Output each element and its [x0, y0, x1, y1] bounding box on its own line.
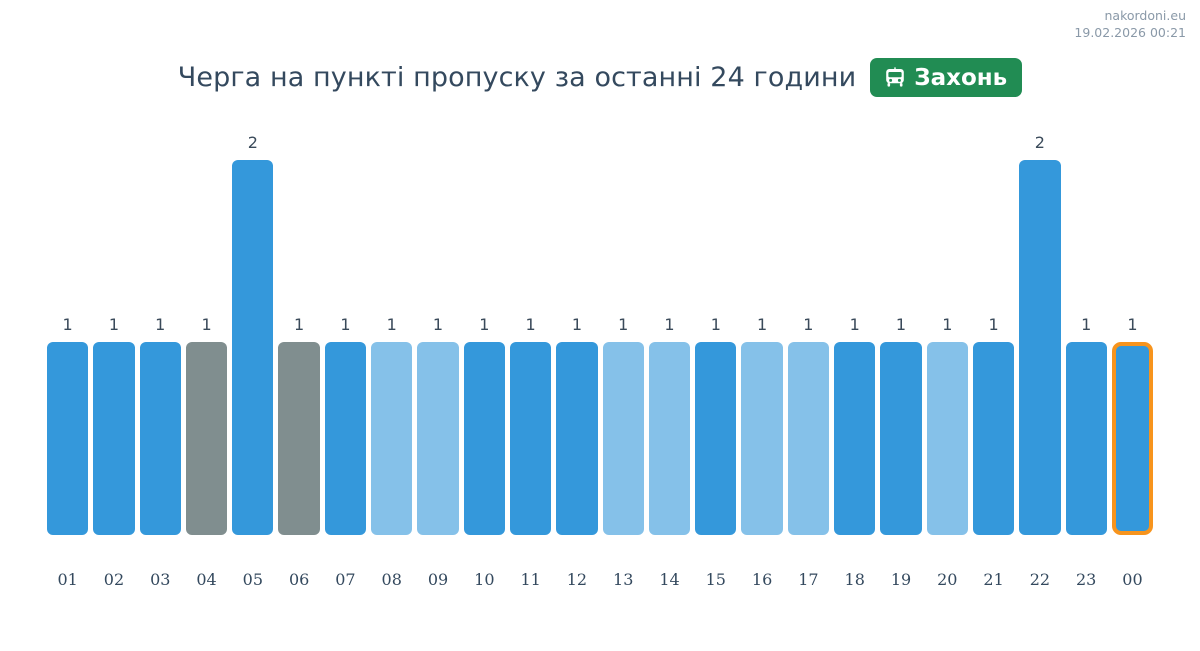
- bar-slot-04[interactable]: 1: [186, 140, 227, 535]
- bar-slot-10[interactable]: 1: [464, 140, 505, 535]
- bar-slot-19[interactable]: 1: [880, 140, 921, 535]
- watermark-meta: nakordoni.eu 19.02.2026 00:21: [1074, 8, 1186, 42]
- x-tick-04: 04: [186, 570, 227, 589]
- x-tick-11: 11: [510, 570, 551, 589]
- x-tick-02: 02: [93, 570, 134, 589]
- bar-value-label: 1: [417, 317, 458, 333]
- bar[interactable]: [649, 342, 690, 535]
- bar-slot-20[interactable]: 1: [927, 140, 968, 535]
- bar[interactable]: [1066, 342, 1107, 535]
- bar-slot-18[interactable]: 1: [834, 140, 875, 535]
- x-tick-15: 15: [695, 570, 736, 589]
- bar-slot-00[interactable]: 1: [1112, 140, 1153, 535]
- timestamp-label: 19.02.2026 00:21: [1074, 25, 1186, 42]
- bar-value-label: 2: [1019, 135, 1060, 151]
- bar-value-label: 1: [1112, 317, 1153, 333]
- bar-slot-13[interactable]: 1: [603, 140, 644, 535]
- bar-value-label: 1: [788, 317, 829, 333]
- bar[interactable]: [278, 342, 319, 535]
- bar-value-label: 1: [325, 317, 366, 333]
- bar-value-label: 1: [1066, 317, 1107, 333]
- bar-slot-08[interactable]: 1: [371, 140, 412, 535]
- bar[interactable]: [556, 342, 597, 535]
- bar-slot-21[interactable]: 1: [973, 140, 1014, 535]
- bar-value-label: 1: [603, 317, 644, 333]
- x-tick-00: 00: [1112, 570, 1153, 589]
- bar[interactable]: [325, 342, 366, 535]
- x-tick-13: 13: [603, 570, 644, 589]
- bar[interactable]: [880, 342, 921, 535]
- bar-value-label: 1: [649, 317, 690, 333]
- chart-header: Черга на пункті пропуску за останні 24 г…: [0, 58, 1200, 97]
- bus-icon: [883, 66, 907, 90]
- bar-slot-07[interactable]: 1: [325, 140, 366, 535]
- bar[interactable]: [417, 342, 458, 535]
- bar-value-label: 1: [186, 317, 227, 333]
- x-tick-07: 07: [325, 570, 366, 589]
- bar-slot-05[interactable]: 2: [232, 140, 273, 535]
- bar-slot-09[interactable]: 1: [417, 140, 458, 535]
- bar-current-hour[interactable]: [1112, 342, 1153, 535]
- bar-slot-16[interactable]: 1: [741, 140, 782, 535]
- bar-slot-11[interactable]: 1: [510, 140, 551, 535]
- bar[interactable]: [695, 342, 736, 535]
- bar-value-label: 1: [927, 317, 968, 333]
- bar-slot-23[interactable]: 1: [1066, 140, 1107, 535]
- x-tick-12: 12: [556, 570, 597, 589]
- bar-value-label: 1: [140, 317, 181, 333]
- bar-slot-06[interactable]: 1: [278, 140, 319, 535]
- x-tick-03: 03: [140, 570, 181, 589]
- x-tick-06: 06: [278, 570, 319, 589]
- bar[interactable]: [603, 342, 644, 535]
- bar[interactable]: [834, 342, 875, 535]
- x-tick-18: 18: [834, 570, 875, 589]
- bar-value-label: 1: [695, 317, 736, 333]
- x-tick-10: 10: [464, 570, 505, 589]
- checkpoint-badge[interactable]: Захонь: [870, 58, 1022, 97]
- bar-value-label: 1: [556, 317, 597, 333]
- x-tick-14: 14: [649, 570, 690, 589]
- x-tick-21: 21: [973, 570, 1014, 589]
- site-watermark: nakordoni.eu: [1074, 8, 1186, 25]
- bar-value-label: 1: [834, 317, 875, 333]
- bar[interactable]: [186, 342, 227, 535]
- x-tick-08: 08: [371, 570, 412, 589]
- chart-plot-area: 111121111111111111111211: [47, 140, 1153, 540]
- page-title: Черга на пункті пропуску за останні 24 г…: [178, 62, 857, 93]
- bar-value-label: 1: [973, 317, 1014, 333]
- bar-slot-14[interactable]: 1: [649, 140, 690, 535]
- bar-value-label: 1: [510, 317, 551, 333]
- bar-value-label: 1: [47, 317, 88, 333]
- bar-slot-22[interactable]: 2: [1019, 140, 1060, 535]
- bar-slot-17[interactable]: 1: [788, 140, 829, 535]
- bar[interactable]: [510, 342, 551, 535]
- x-tick-23: 23: [1066, 570, 1107, 589]
- bar-value-label: 2: [232, 135, 273, 151]
- x-tick-20: 20: [927, 570, 968, 589]
- x-tick-01: 01: [47, 570, 88, 589]
- bar-value-label: 1: [464, 317, 505, 333]
- bar[interactable]: [741, 342, 782, 535]
- checkpoint-name: Захонь: [914, 67, 1007, 90]
- bar-value-label: 1: [741, 317, 782, 333]
- bar-slot-03[interactable]: 1: [140, 140, 181, 535]
- x-axis-ticks: 0102030405060708091011121314151617181920…: [47, 570, 1153, 589]
- bar-value-label: 1: [371, 317, 412, 333]
- bar-slot-15[interactable]: 1: [695, 140, 736, 535]
- bar-series: 111121111111111111111211: [47, 140, 1153, 535]
- x-tick-17: 17: [788, 570, 829, 589]
- bar[interactable]: [973, 342, 1014, 535]
- bar-value-label: 1: [93, 317, 134, 333]
- bar[interactable]: [371, 342, 412, 535]
- bar[interactable]: [464, 342, 505, 535]
- bar-value-label: 1: [278, 317, 319, 333]
- bar[interactable]: [140, 342, 181, 535]
- bar[interactable]: [788, 342, 829, 535]
- x-tick-05: 05: [232, 570, 273, 589]
- x-tick-16: 16: [741, 570, 782, 589]
- bar[interactable]: [927, 342, 968, 535]
- bar-slot-02[interactable]: 1: [93, 140, 134, 535]
- bar[interactable]: [1019, 160, 1060, 535]
- x-tick-19: 19: [880, 570, 921, 589]
- bar[interactable]: [93, 342, 134, 535]
- bar[interactable]: [47, 342, 88, 535]
- x-tick-22: 22: [1019, 570, 1060, 589]
- x-tick-09: 09: [417, 570, 458, 589]
- bar-value-label: 1: [880, 317, 921, 333]
- bar-slot-01[interactable]: 1: [47, 140, 88, 535]
- bar-slot-12[interactable]: 1: [556, 140, 597, 535]
- bar[interactable]: [232, 160, 273, 535]
